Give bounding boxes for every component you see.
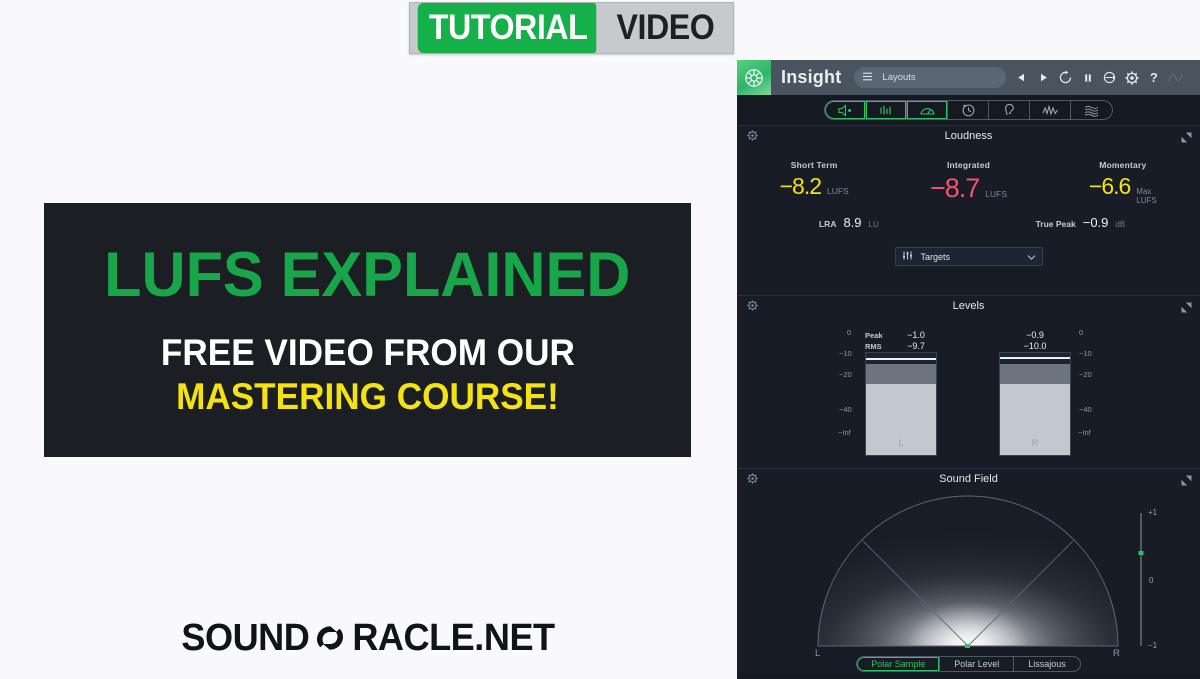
- sound-field-panel-header: Sound Field: [737, 469, 1200, 489]
- insight-logo-icon: [737, 60, 771, 95]
- panel-title: Levels: [953, 300, 985, 312]
- promo-title: LUFS EXPLAINED: [104, 244, 630, 307]
- panel-title: Sound Field: [939, 473, 998, 485]
- momentary-unit-line2: LUFS: [1136, 196, 1156, 205]
- loudness-panel-header: Loudness: [737, 126, 1200, 146]
- promo-subtitle-line-2: MASTERING COURSE!: [176, 377, 559, 416]
- tab-spectrogram[interactable]: [1071, 101, 1112, 119]
- loudness-secondary-readouts: LRA 8.9 LU True Peak −0.9 dB: [737, 215, 1200, 230]
- tab-loudness-gauge[interactable]: [907, 101, 948, 119]
- lra-value: 8.9: [843, 215, 861, 230]
- soundoracle-logo: SOUND RACLE.NET: [178, 617, 560, 659]
- list-menu-icon[interactable]: [862, 69, 873, 87]
- reset-icon[interactable]: [1056, 68, 1075, 87]
- faders-icon: [902, 248, 913, 266]
- scale-tick: 0: [1079, 328, 1083, 337]
- scale-tick: −Inf: [838, 428, 851, 437]
- izotope-logo-icon: [1166, 68, 1185, 87]
- loudness-integrated: Integrated −8.7 LUFS: [891, 160, 1045, 205]
- momentary-value: −6.6: [1089, 175, 1130, 198]
- scale-tick: −10: [1079, 349, 1092, 358]
- levels-panel-header: Levels: [737, 296, 1200, 316]
- lra-readout: LRA 8.9 LU: [737, 215, 961, 230]
- targets-dropdown[interactable]: Targets: [895, 247, 1043, 266]
- levels-panel: Levels Peak −1.0: [737, 295, 1200, 468]
- left-peak-value: −1.0: [895, 330, 937, 340]
- loudness-readouts: Short Term −8.2 LUFS Integrated −8.7 LUF…: [737, 146, 1200, 205]
- correlation-tick-zero: 0: [1149, 576, 1153, 585]
- loudness-short-term: Short Term −8.2 LUFS: [737, 160, 891, 205]
- plugin-title: Insight: [781, 67, 841, 88]
- view-mode-tabbar: [737, 95, 1200, 125]
- short-term-label: Short Term: [737, 160, 891, 170]
- tab-intelligibility[interactable]: [989, 101, 1030, 119]
- right-peak-value: −0.9: [999, 330, 1071, 340]
- expand-icon[interactable]: [1181, 130, 1192, 148]
- left-meter-readouts: Peak −1.0 RMS −9.7: [865, 330, 937, 352]
- pause-icon[interactable]: [1078, 68, 1097, 87]
- insight-plugin-window: Insight Layouts: [737, 60, 1200, 679]
- peak-label: Peak: [865, 331, 895, 340]
- short-term-value: −8.2: [780, 175, 821, 198]
- banner-word-video: VIDEO: [609, 3, 727, 53]
- sound-field-mode-row: Polar Sample Polar Level Lissajous: [737, 656, 1200, 672]
- tab-loudness-speaker[interactable]: [825, 101, 866, 119]
- loudness-panel: Loudness Short Term −8.2 LUFS: [737, 125, 1200, 295]
- layouts-label: Layouts: [882, 72, 915, 83]
- scale-tick: −40: [839, 405, 852, 414]
- logo-text-part-2: RACLE.NET: [352, 619, 554, 657]
- momentary-unit-line1: Max: [1136, 187, 1151, 196]
- promo-card: LUFS EXPLAINED FREE VIDEO FROM OUR MASTE…: [45, 204, 690, 456]
- scale-tick: −40: [1079, 405, 1092, 414]
- rms-label: RMS: [865, 342, 895, 351]
- mode-lissajous[interactable]: Lissajous: [1014, 657, 1080, 671]
- scale-tick: −Inf: [1078, 428, 1091, 437]
- right-meter-readouts: −0.9 −10.0: [999, 330, 1071, 352]
- help-icon[interactable]: ?: [1144, 68, 1163, 87]
- mode-polar-sample[interactable]: Polar Sample: [857, 657, 940, 671]
- correlation-tick-minus-one: −1: [1148, 641, 1157, 650]
- logo-text-part-1: SOUND: [181, 619, 309, 657]
- next-arrow-icon[interactable]: [1034, 68, 1053, 87]
- momentary-label: Momentary: [1046, 160, 1200, 170]
- tab-history[interactable]: [948, 101, 989, 119]
- channel-label-left: L: [865, 438, 937, 449]
- correlation-tick-plus-one: +1: [1148, 508, 1157, 517]
- momentary-unit: Max LUFS: [1136, 187, 1156, 205]
- header-icon-group: ?: [1012, 68, 1185, 87]
- level-meter-right: −0.9 −10.0 R 0 −10: [999, 330, 1071, 456]
- sound-field-panel: Sound Field: [737, 468, 1200, 673]
- tab-waveform[interactable]: [1030, 101, 1071, 119]
- lra-label: LRA: [819, 219, 836, 229]
- true-peak-value: −0.9: [1083, 215, 1109, 230]
- plugin-header: Insight Layouts: [737, 60, 1200, 95]
- right-rms-value: −10.0: [999, 341, 1071, 351]
- channel-label-right: R: [999, 438, 1071, 449]
- screenshot-root: TUTORIAL VIDEO LUFS EXPLAINED FREE VIDEO…: [0, 0, 1200, 679]
- gear-icon[interactable]: [1122, 68, 1141, 87]
- sound-field-display[interactable]: +1 0 −1 L R Polar Sample Polar Level Lis…: [737, 489, 1200, 674]
- true-peak-label: True Peak: [1036, 219, 1076, 229]
- integrated-label: Integrated: [891, 160, 1045, 170]
- tab-level-meters[interactable]: [866, 101, 907, 119]
- level-meter-left: Peak −1.0 RMS −9.7 L: [865, 330, 937, 456]
- prev-arrow-icon[interactable]: [1012, 68, 1031, 87]
- true-peak-unit: dB: [1115, 220, 1125, 229]
- scale-tick: −20: [839, 370, 852, 379]
- circular-arrows-icon: [313, 621, 347, 655]
- gear-icon[interactable]: [746, 299, 759, 317]
- loudness-momentary: Momentary −6.6 Max LUFS: [1046, 160, 1200, 205]
- view-mode-tabs: [824, 100, 1113, 120]
- promo-subtitle-line-1: FREE VIDEO FROM OUR: [160, 333, 574, 372]
- scale-tick: 0: [847, 328, 851, 337]
- panel-title: Loudness: [945, 130, 993, 142]
- gear-icon[interactable]: [746, 129, 759, 147]
- chevron-down-icon[interactable]: [1027, 248, 1036, 266]
- lra-unit: LU: [869, 220, 879, 229]
- gear-icon[interactable]: [746, 472, 759, 490]
- integrated-unit: LUFS: [985, 189, 1007, 199]
- targets-label: Targets: [921, 252, 1027, 262]
- sound-field-mode-control: Polar Sample Polar Level Lissajous: [856, 656, 1081, 672]
- mode-polar-level[interactable]: Polar Level: [940, 657, 1014, 671]
- scale-tick: −20: [1079, 370, 1092, 379]
- integrated-value: −8.7: [930, 175, 979, 202]
- true-peak-readout: True Peak −0.9 dB: [961, 215, 1200, 230]
- layouts-preset-bar[interactable]: Layouts: [854, 67, 1006, 88]
- scale-tick: −10: [839, 349, 852, 358]
- short-term-unit: LUFS: [827, 186, 849, 196]
- left-rms-value: −9.7: [895, 341, 937, 351]
- levels-meters: Peak −1.0 RMS −9.7 L: [737, 316, 1200, 466]
- tutorial-video-banner: TUTORIAL VIDEO: [409, 2, 734, 54]
- sync-icon[interactable]: [1100, 68, 1119, 87]
- targets-row: Targets: [737, 247, 1200, 266]
- banner-word-tutorial: TUTORIAL: [418, 3, 597, 53]
